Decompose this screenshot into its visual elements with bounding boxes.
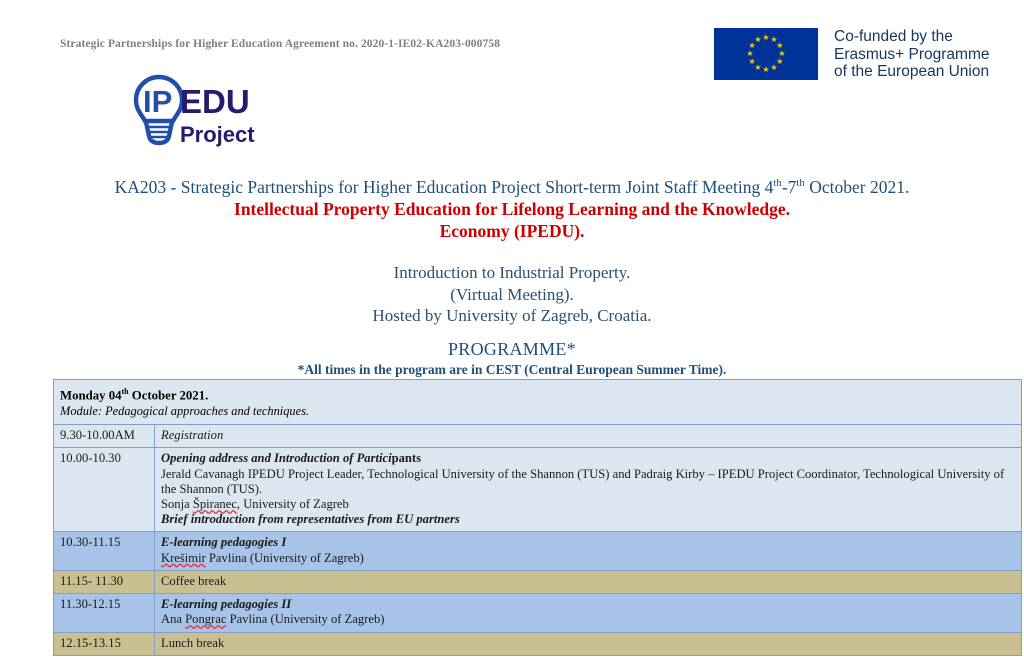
title-line-1-sup-1: th — [773, 177, 781, 189]
eu-funding-line-3: of the European Union — [834, 63, 989, 81]
schedule-description-cell: E-learning pedagogies IKrešimir Pavlina … — [155, 532, 1022, 570]
schedule-entry-line: Sonja Špiranec, University of Zagreb — [161, 497, 1015, 512]
eu-funding-line-1: Co-funded by the — [834, 28, 989, 46]
schedule-description-cell: E-learning pedagogies IIAna Pongrac Pavl… — [155, 594, 1022, 632]
eu-star-icon: ★ — [770, 64, 778, 72]
ipedu-logo: IP EDU Project — [96, 66, 281, 156]
title-line-1: KA203 - Strategic Partnerships for Highe… — [0, 172, 1024, 198]
title-line-1-part-c: October 2021. — [805, 177, 910, 197]
eu-funding-text: Co-funded by the Erasmus+ Programme of t… — [834, 28, 989, 81]
schedule-entry-line: Opening address and Introduction of Part… — [161, 451, 1015, 466]
misspelled-word: Pongrac — [185, 612, 226, 626]
subtitle-line-1: Introduction to Industrial Property. — [0, 262, 1024, 284]
schedule-day-title-sup: th — [122, 387, 129, 396]
schedule-description-cell: Registration — [155, 425, 1022, 448]
schedule-entry-title: Opening address and Introduction of Part… — [161, 451, 392, 465]
misspelled-word: Špiranec — [193, 497, 237, 511]
schedule-time-cell: 11.15- 11.30 — [54, 570, 155, 593]
eu-funding-line-2: Erasmus+ Programme — [834, 46, 989, 64]
title-line-1-part-b: -7 — [782, 177, 797, 197]
schedule-entry-line: Brief introduction from representatives … — [161, 512, 1015, 527]
schedule-day-module: Module: Pedagogical approaches and techn… — [60, 403, 1015, 419]
schedule-row: 11.30-12.15E-learning pedagogies IIAna P… — [54, 594, 1022, 632]
schedule-day-header-cell: Monday 04th October 2021. Module: Pedago… — [54, 380, 1022, 425]
subtitle-line-2: (Virtual Meeting). — [0, 284, 1024, 306]
schedule-entry-line: Jerald Cavanagh IPEDU Project Leader, Te… — [161, 467, 1015, 497]
eu-star-icon: ★ — [762, 66, 770, 74]
misspelled-word: Krešimir — [161, 551, 206, 565]
subtitle-line-3: Hosted by University of Zagreb, Croatia. — [0, 305, 1024, 327]
schedule-row: 11.15- 11.30Coffee break — [54, 570, 1022, 593]
eu-erasmus-logo: ★★★★★★★★★★★★ Co-funded by the Erasmus+ P… — [714, 28, 1014, 84]
title-line-1-part-a: KA203 - Strategic Partnerships for Highe… — [115, 177, 774, 197]
schedule-row: 10.00-10.30Opening address and Introduct… — [54, 448, 1022, 532]
title-line-1-sup-2: th — [796, 177, 804, 189]
ipedu-logo-ip-text: IP — [143, 84, 172, 119]
ipedu-logo-project-text: Project — [180, 122, 255, 147]
ipedu-logo-edu-text: EDU — [180, 83, 250, 120]
schedule-description-cell: Lunch break — [155, 632, 1022, 655]
schedule-day-header-row: Monday 04th October 2021. Module: Pedago… — [54, 380, 1022, 425]
programme-heading: PROGRAMME* — [0, 338, 1024, 361]
title-line-3: Economy (IPEDU). — [0, 220, 1024, 242]
schedule-entry-line: Coffee break — [161, 574, 1015, 589]
schedule-table: Monday 04th October 2021. Module: Pedago… — [53, 379, 1022, 656]
eu-star-icon: ★ — [746, 50, 754, 58]
schedule-entry-title-tail: pants — [392, 451, 421, 465]
schedule-day-title-part-b: October 2021. — [129, 388, 209, 402]
eu-star-icon: ★ — [762, 34, 770, 42]
schedule-day-title-part-a: Monday 04 — [60, 388, 122, 402]
schedule-time-cell: 12.15-13.15 — [54, 632, 155, 655]
schedule-time-cell: 11.30-12.15 — [54, 594, 155, 632]
schedule-description-cell: Coffee break — [155, 570, 1022, 593]
schedule-table-body: Monday 04th October 2021. Module: Pedago… — [54, 380, 1022, 656]
schedule-time-cell: 9.30-10.00AM — [54, 425, 155, 448]
programme-timezone-note: *All times in the program are in CEST (C… — [0, 361, 1024, 379]
schedule-entry-line: E-learning pedagogies I — [161, 535, 1015, 550]
schedule-entry-line: Krešimir Pavlina (University of Zagreb) — [161, 551, 1015, 566]
schedule-time-cell: 10.00-10.30 — [54, 448, 155, 532]
main-title-block: KA203 - Strategic Partnerships for Highe… — [0, 172, 1024, 242]
schedule-row: 9.30-10.00AMRegistration — [54, 425, 1022, 448]
subtitle-block: Introduction to Industrial Property. (Vi… — [0, 262, 1024, 327]
programme-heading-block: PROGRAMME* *All times in the program are… — [0, 338, 1024, 379]
schedule-entry-line: Registration — [161, 428, 1015, 443]
schedule-entry-line: Ana Pongrac Pavlina (University of Zagre… — [161, 612, 1015, 627]
agreement-number-line: Strategic Partnerships for Higher Educat… — [60, 38, 500, 50]
schedule-row: 10.30-11.15E-learning pedagogies IKrešim… — [54, 532, 1022, 570]
title-line-2: Intellectual Property Education for Life… — [0, 198, 1024, 220]
schedule-row: 12.15-13.15Lunch break — [54, 632, 1022, 655]
eu-flag-icon: ★★★★★★★★★★★★ — [714, 28, 818, 80]
eu-star-icon: ★ — [748, 58, 756, 66]
schedule-description-cell: Opening address and Introduction of Part… — [155, 448, 1022, 532]
eu-star-icon: ★ — [754, 36, 762, 44]
schedule-day-title: Monday 04th October 2021. — [60, 384, 1015, 403]
schedule-time-cell: 10.30-11.15 — [54, 532, 155, 570]
schedule-entry-line: Lunch break — [161, 636, 1015, 651]
schedule-entry-line: E-learning pedagogies II — [161, 597, 1015, 612]
